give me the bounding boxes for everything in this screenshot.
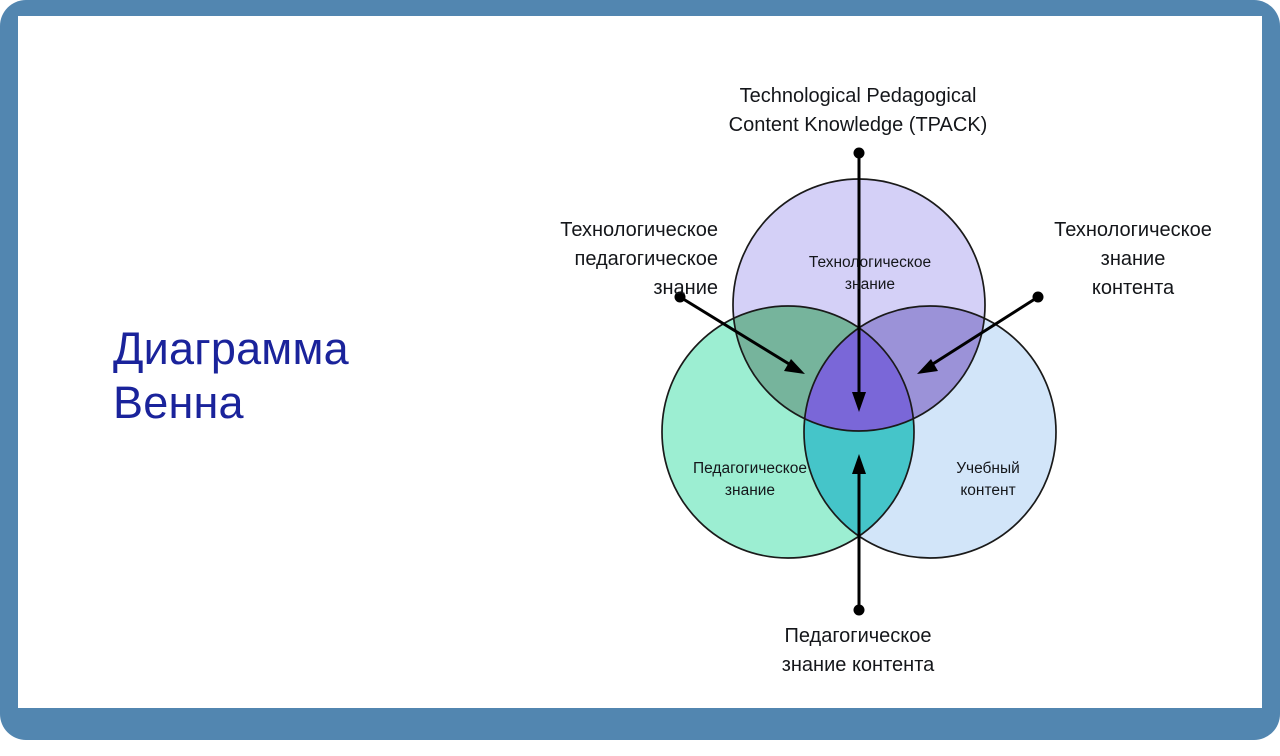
slide-canvas: Диаграмма Венна bbox=[18, 16, 1262, 708]
callout-pedagogical-content-knowledge: Педагогическое знание контента bbox=[708, 622, 1008, 680]
callout-technological-pedagogical-knowledge: Технологическое педагогическое знание bbox=[468, 216, 718, 303]
callout-tpack: Technological Pedagogical Content Knowle… bbox=[658, 82, 1058, 140]
callout-technological-content-knowledge: Технологическое знание контента bbox=[998, 216, 1268, 303]
venn-diagram: Технологическое знание Педагогическое зн… bbox=[458, 16, 1280, 756]
slide-frame: Диаграмма Венна bbox=[0, 0, 1280, 740]
